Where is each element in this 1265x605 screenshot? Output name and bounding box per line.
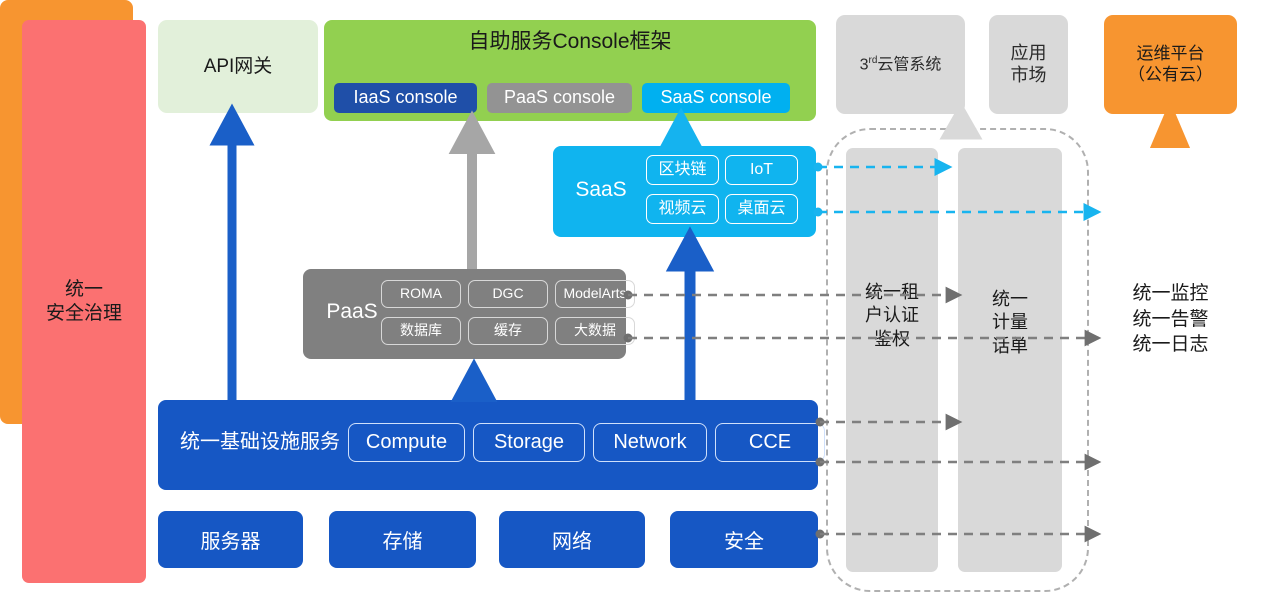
paas-chip-dgc[interactable]: DGC	[468, 280, 548, 308]
api-gateway-box: API网关	[158, 20, 318, 113]
self-service-console-frame: 自助服务Console框架 IaaS console PaaS console …	[324, 20, 816, 121]
arrow-paas-to-console	[457, 121, 487, 269]
arrow-saas-to-console	[666, 118, 696, 146]
resource-box-storage[interactable]: 存储	[329, 511, 476, 568]
app-market-box: 应用 市场	[989, 15, 1068, 114]
resource-box-network[interactable]: 网络	[499, 511, 645, 568]
console-chip-saas[interactable]: SaaS console	[642, 83, 790, 113]
architecture-diagram: 统一 安全治理 API网关 自助服务Console框架 IaaS console…	[0, 0, 1265, 605]
resource-box-security[interactable]: 安全	[670, 511, 818, 568]
paas-chip-cache[interactable]: 缓存	[468, 317, 548, 345]
iaas-chip-storage[interactable]: Storage	[473, 423, 585, 462]
paas-chip-roma[interactable]: ROMA	[381, 280, 461, 308]
iaas-chip-compute[interactable]: Compute	[348, 423, 465, 462]
arrow-iaas-to-api-gateway	[217, 113, 247, 400]
third-party-cloud-mgmt-label: 3rd云管系统	[860, 55, 942, 75]
saas-chip-desktop-cloud[interactable]: 桌面云	[725, 194, 798, 224]
unified-infrastructure-services-bar: 统一基础设施服务 Compute Storage Network CCE	[158, 400, 818, 490]
paas-chip-database[interactable]: 数据库	[381, 317, 461, 345]
console-chip-iaas[interactable]: IaaS console	[334, 83, 477, 113]
paas-chip-bigdata[interactable]: 大数据	[555, 317, 635, 345]
resource-box-server[interactable]: 服务器	[158, 511, 303, 568]
ops-platform-public-cloud-box: 运维平台 （公有云）	[1104, 15, 1237, 114]
iaas-chip-cce[interactable]: CCE	[715, 423, 825, 462]
saas-chip-iot[interactable]: IoT	[725, 155, 798, 185]
unified-infrastructure-services-label: 统一基础设施服务	[172, 430, 348, 454]
security-governance-panel: 统一 安全治理	[22, 20, 146, 583]
saas-chip-video-cloud[interactable]: 视频云	[646, 194, 719, 224]
paas-layer-label: PaaS	[313, 299, 391, 325]
arrow-iaas-to-paas	[459, 369, 489, 400]
paas-layer-box: PaaS ROMA DGC ModelArts 数据库 缓存 大数据	[303, 269, 626, 359]
paas-chip-modelarts[interactable]: ModelArts	[555, 280, 635, 308]
iaas-chip-network[interactable]: Network	[593, 423, 707, 462]
ops-platform-monitoring-label: 统一监控 统一告警 统一日志	[1104, 281, 1237, 358]
security-governance-label: 统一 安全治理	[46, 278, 122, 324]
app-market-label: 应用 市场	[1011, 43, 1047, 87]
ops-platform-public-cloud-label: 运维平台 （公有云）	[1128, 44, 1213, 85]
arrow-ops-main-to-ops-top	[1159, 116, 1181, 148]
unified-metering-column	[958, 148, 1062, 572]
saas-chip-blockchain[interactable]: 区块链	[646, 155, 719, 185]
api-gateway-label: API网关	[204, 55, 273, 78]
unified-tenant-auth-column	[846, 148, 938, 572]
saas-layer-box: SaaS 区块链 IoT 视频云 桌面云	[553, 146, 816, 237]
unified-metering-label: 统一 计量 话单	[958, 288, 1062, 358]
unified-tenant-auth-label: 统一租 户认证 鉴权	[846, 281, 938, 351]
saas-layer-label: SaaS	[565, 177, 637, 203]
arrow-iaas-to-saas	[675, 238, 705, 400]
console-frame-title: 自助服务Console框架	[324, 29, 816, 55]
console-chip-paas[interactable]: PaaS console	[487, 83, 632, 113]
third-party-cloud-mgmt-box: 3rd云管系统	[836, 15, 965, 114]
